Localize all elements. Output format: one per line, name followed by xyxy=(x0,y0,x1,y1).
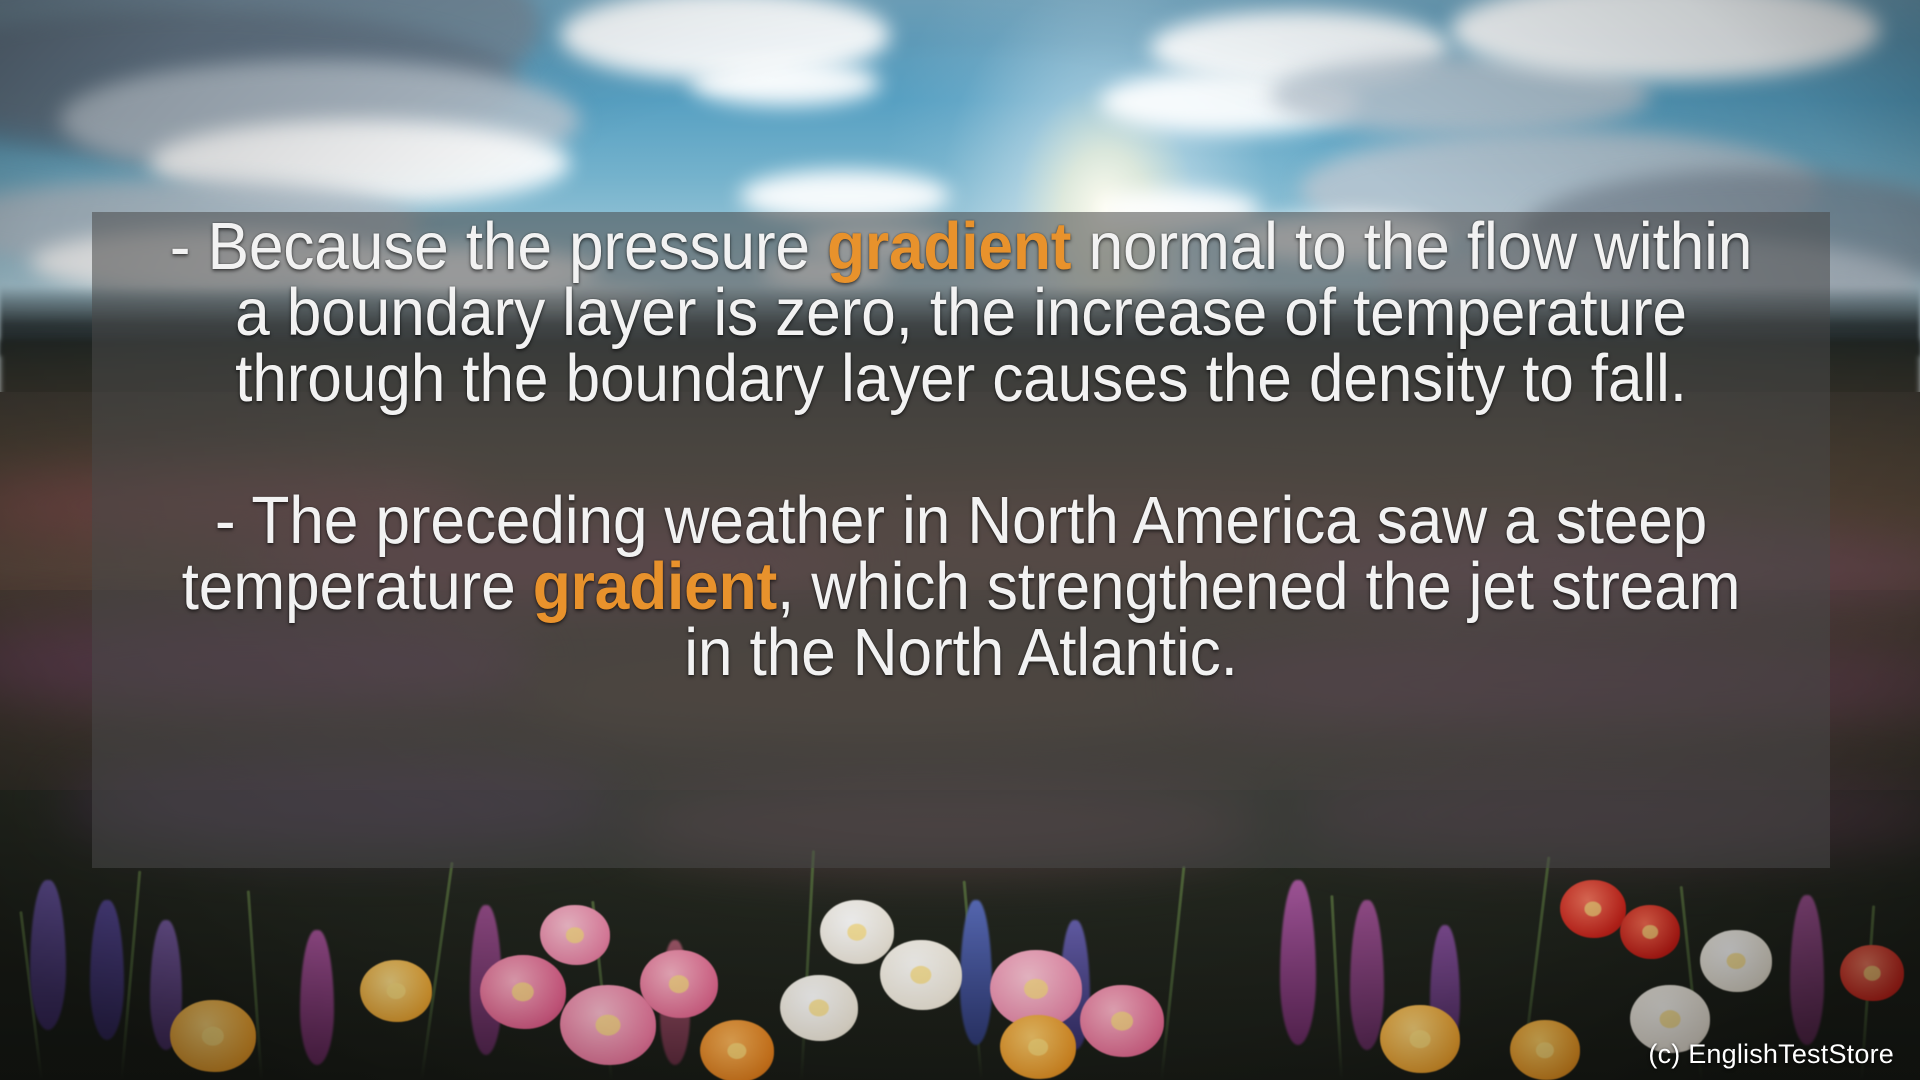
flower xyxy=(1080,985,1164,1057)
flower-spike xyxy=(1790,895,1824,1045)
flower xyxy=(360,960,432,1022)
flower xyxy=(700,1020,774,1080)
copyright-watermark: (c) EnglishTestStore xyxy=(1648,1039,1894,1070)
flower xyxy=(1560,880,1626,938)
flower xyxy=(1000,1015,1076,1079)
flower xyxy=(1510,1020,1580,1080)
cloud xyxy=(690,60,880,106)
example-sentence-1: - Because the pressure gradient normal t… xyxy=(170,214,1753,412)
flower xyxy=(540,905,610,965)
example-sentence-2: - The preceding weather in North America… xyxy=(170,488,1753,686)
flower-spike xyxy=(300,930,334,1065)
flower-spike xyxy=(30,880,66,1030)
flower xyxy=(170,1000,256,1072)
flower-spike xyxy=(960,900,992,1045)
flower xyxy=(1380,1005,1460,1073)
flower xyxy=(560,985,656,1065)
sentence-2-after: , which strengthened the jet stream in t… xyxy=(684,549,1740,690)
flower xyxy=(640,950,718,1018)
flower xyxy=(1620,905,1680,959)
flower xyxy=(820,900,894,964)
flower-spike xyxy=(1350,900,1384,1050)
screenshot-stage: - Because the pressure gradient normal t… xyxy=(0,0,1920,1080)
text-overlay-panel: - Because the pressure gradient normal t… xyxy=(92,212,1830,868)
flower xyxy=(1840,945,1904,1001)
sentence-1-before: - Because the pressure xyxy=(170,209,827,284)
flower-spike xyxy=(90,900,124,1040)
flower xyxy=(780,975,858,1041)
flower xyxy=(880,940,962,1010)
flower xyxy=(1700,930,1772,992)
keyword-highlight: gradient xyxy=(827,209,1071,284)
keyword-highlight: gradient xyxy=(533,549,777,624)
flower xyxy=(480,955,566,1029)
